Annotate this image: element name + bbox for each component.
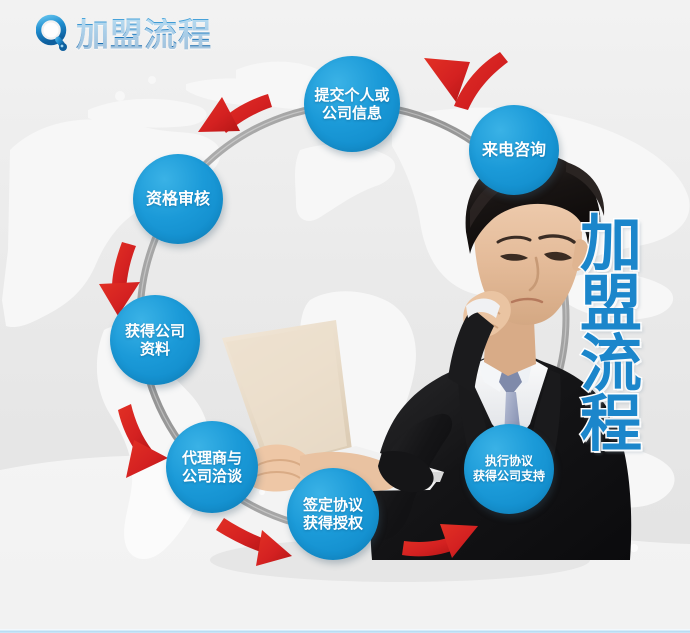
bottom-divider: [0, 629, 690, 633]
flow-node-2[interactable]: 提交个人或 公司信息: [304, 56, 400, 152]
flow-node-4-label: 获得公司 资料: [125, 322, 185, 359]
flow-node-1[interactable]: 来电咨询: [469, 105, 559, 195]
flow-node-1-label: 来电咨询: [482, 140, 546, 160]
flow-node-5[interactable]: 代理商与 公司洽谈: [166, 421, 258, 513]
flow-node-6-label: 签定协议 获得授权: [303, 496, 363, 533]
flow-node-5-label: 代理商与 公司洽谈: [182, 449, 242, 486]
wordmark-char-3: 流: [580, 334, 642, 394]
brand-wordmark-vertical: 加 盟 流 程: [568, 214, 654, 455]
flow-node-4[interactable]: 获得公司 资料: [110, 295, 200, 385]
wordmark-char-1: 加: [580, 214, 642, 274]
promo-banner: 加盟流程: [0, 0, 690, 633]
flow-node-2-label: 提交个人或 公司信息: [314, 86, 389, 123]
flow-node-3[interactable]: 资格审核: [133, 154, 223, 244]
wordmark-char-2: 盟: [580, 274, 642, 334]
wordmark-char-4: 程: [580, 394, 642, 454]
flow-node-7[interactable]: 执行协议 获得公司支持: [464, 424, 554, 514]
flow-node-3-label: 资格审核: [146, 189, 210, 209]
flow-node-6[interactable]: 签定协议 获得授权: [287, 468, 379, 560]
flow-node-7-label: 执行协议 获得公司支持: [473, 454, 545, 483]
